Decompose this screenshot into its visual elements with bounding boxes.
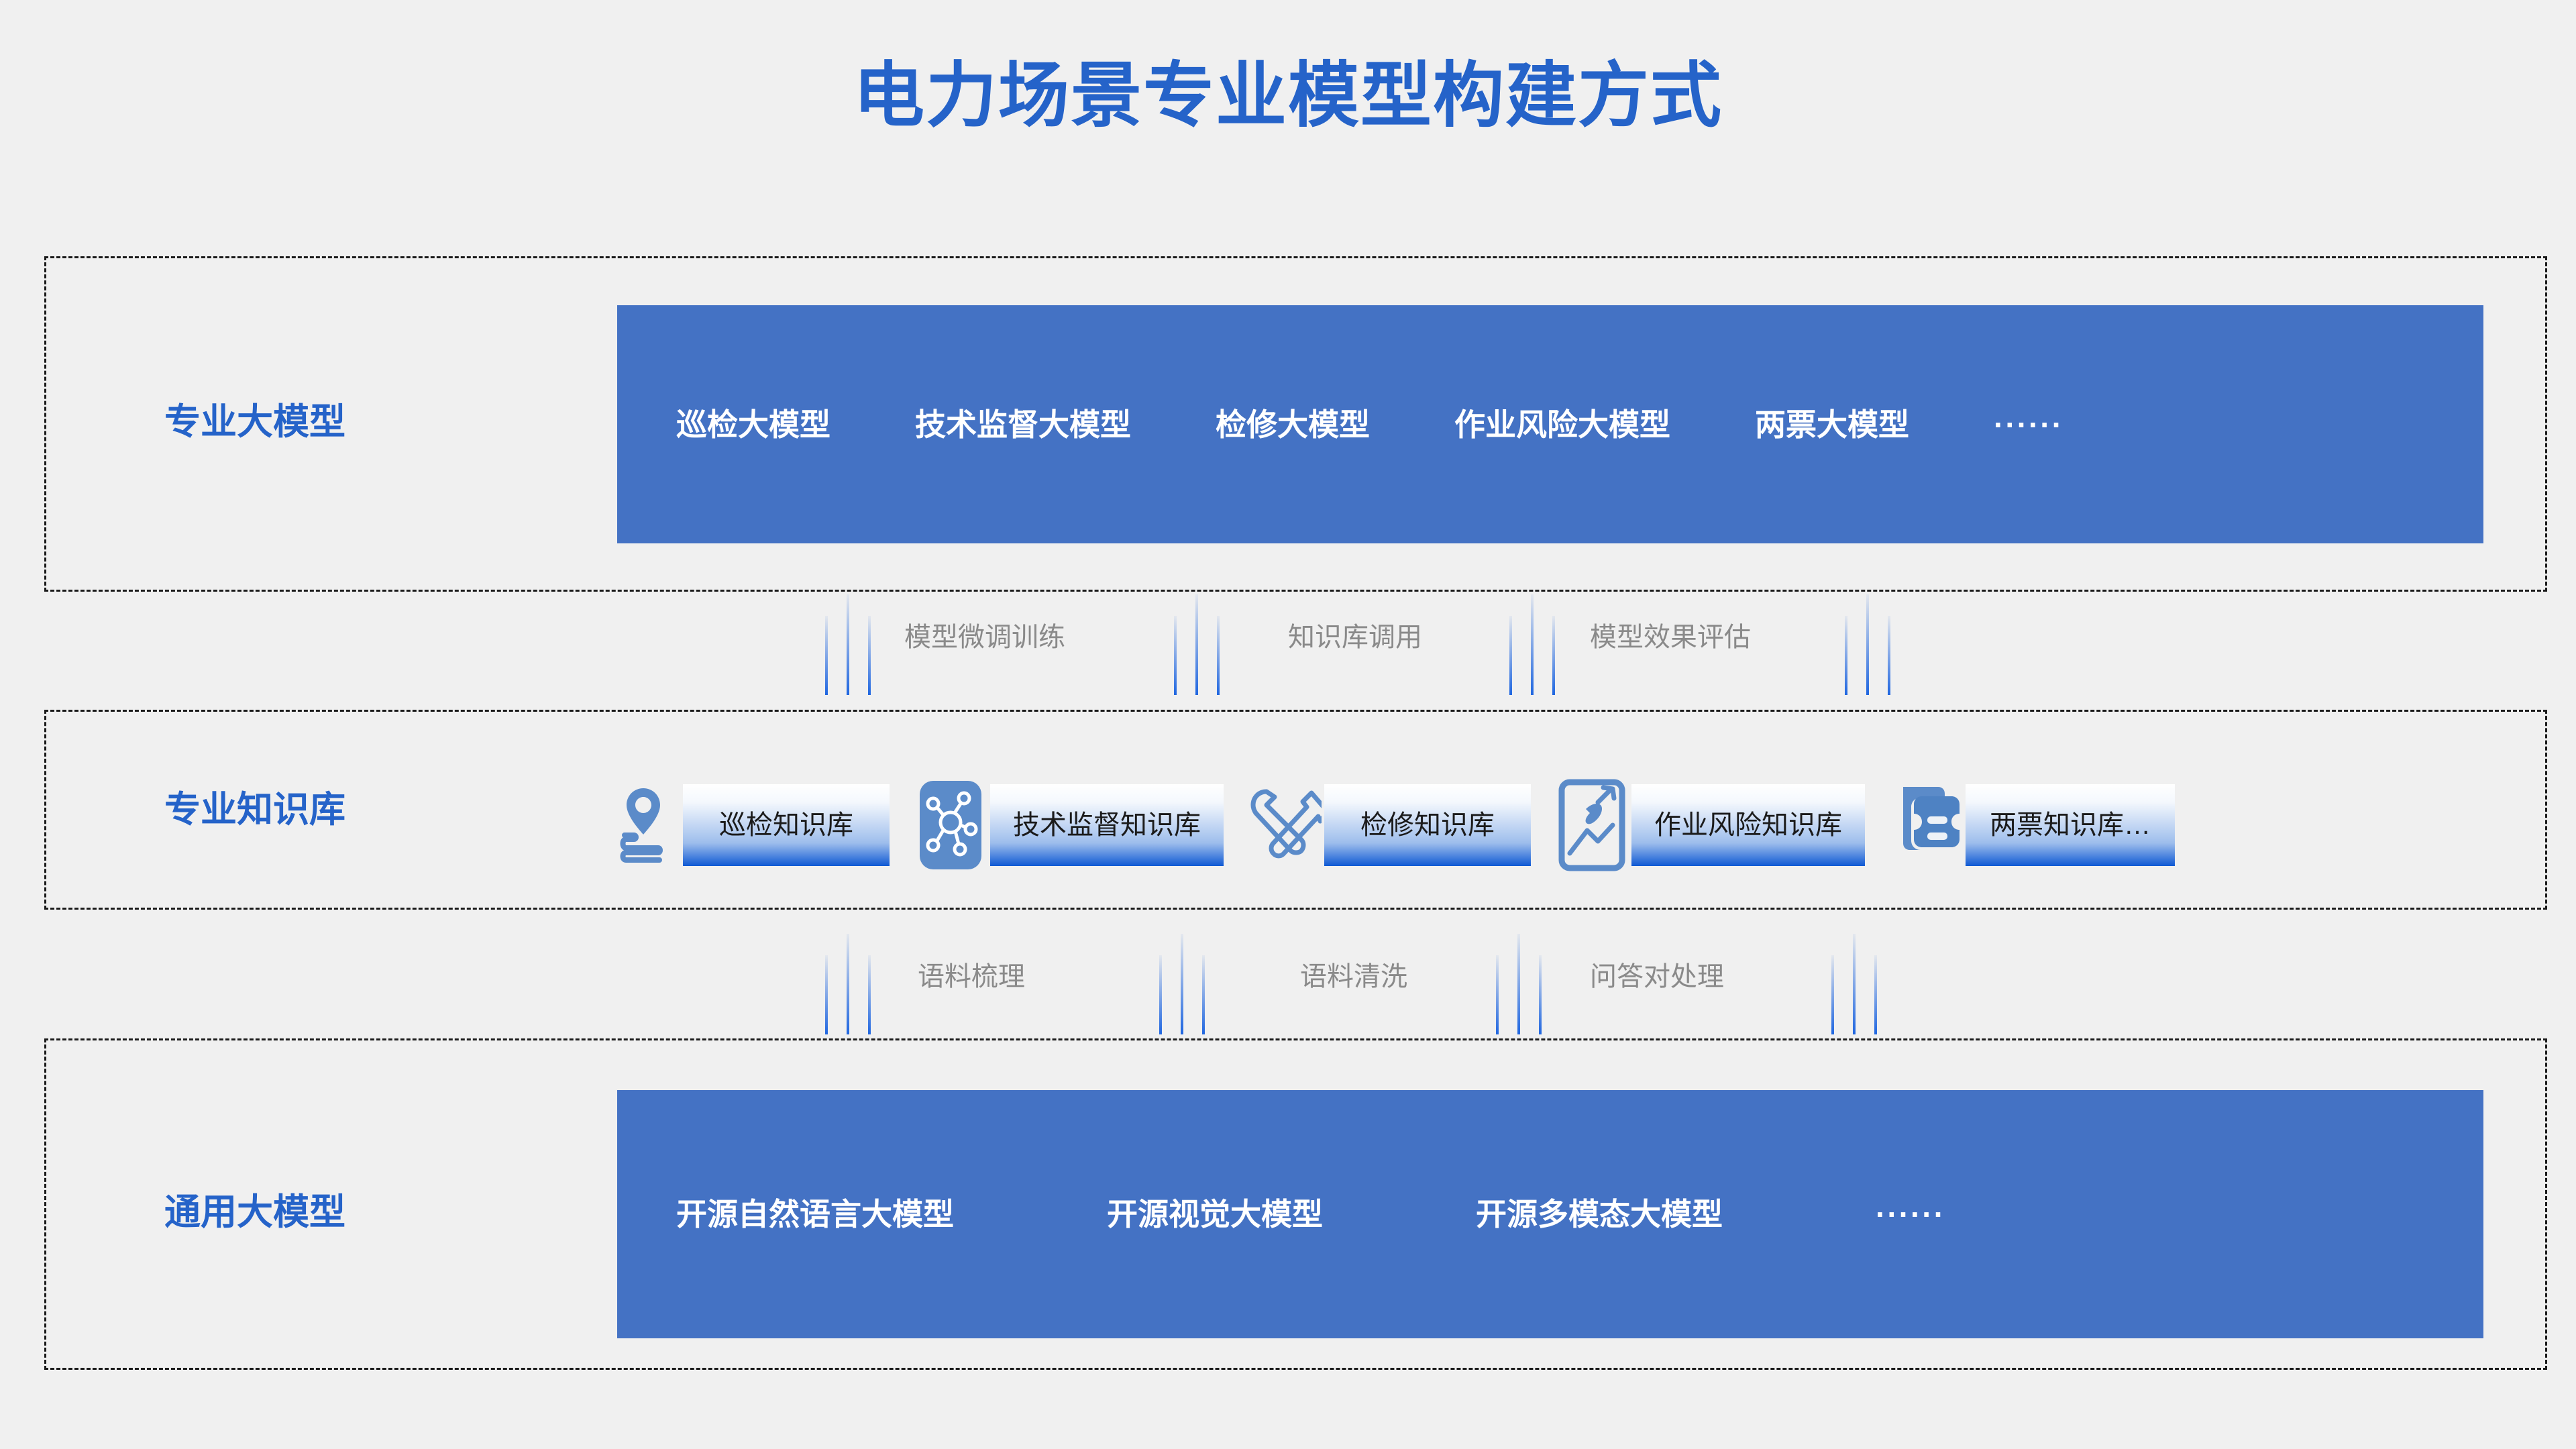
connector-line-group-2 <box>1174 594 1234 695</box>
connector-line-group-5 <box>825 934 885 1034</box>
kb-card-inspection[interactable]: 巡检知识库 <box>604 778 890 872</box>
model-item-more-ellipsis: ······ <box>1994 409 2063 440</box>
general-item-multimodal[interactable]: 开源多模态大模型 <box>1476 1199 1723 1230</box>
connector-line-group-6 <box>1159 934 1220 1034</box>
section-label-professional-model: 专业大模型 <box>0 404 510 440</box>
general-item-more-ellipsis: ······ <box>1876 1199 1945 1230</box>
general-item-vision[interactable]: 开源视觉大模型 <box>1107 1199 1323 1230</box>
connector-line-group-8 <box>1831 934 1892 1034</box>
general-item-nlp[interactable]: 开源自然语言大模型 <box>676 1199 954 1230</box>
connector-line-group-1 <box>825 594 885 695</box>
connector-kb-to-general: 语料梳理 语料清洗 问答对处理 <box>617 934 2483 1034</box>
model-item-inspection[interactable]: 巡检大模型 <box>676 409 830 440</box>
connector-line-group-4 <box>1845 594 1905 695</box>
connector-label-finetune: 模型微调训练 <box>904 624 1065 651</box>
kb-label-inspection: 巡检知识库 <box>719 812 853 839</box>
kb-chip-two-tickets[interactable]: 两票知识库… <box>1966 784 2175 866</box>
model-item-tech-supervision[interactable]: 技术监督大模型 <box>915 409 1131 440</box>
kb-label-maintenance: 检修知识库 <box>1360 812 1495 839</box>
model-item-maintenance[interactable]: 检修大模型 <box>1216 409 1370 440</box>
knowledge-base-card-row: 巡检知识库 <box>604 765 2549 885</box>
connector-label-kb-invoke: 知识库调用 <box>1288 624 1422 651</box>
kb-card-maintenance[interactable]: 检修知识库 <box>1245 778 1531 872</box>
ticket-stack-icon <box>1886 778 1966 872</box>
kb-card-work-risk[interactable]: 作业风险知识库 <box>1552 778 1865 872</box>
kb-card-tech-supervision[interactable]: 技术监督知识库 <box>911 778 1224 872</box>
kb-chip-inspection[interactable]: 巡检知识库 <box>683 784 890 866</box>
section-label-general-model: 通用大模型 <box>0 1194 510 1230</box>
location-pin-icon <box>604 778 683 872</box>
connector-label-corpus-sorting: 语料梳理 <box>918 963 1025 990</box>
network-node-icon <box>911 778 990 872</box>
kb-card-two-tickets[interactable]: 两票知识库… <box>1886 778 2175 872</box>
section-label-professional-kb: 专业知识库 <box>0 792 510 828</box>
model-item-two-tickets[interactable]: 两票大模型 <box>1755 409 1909 440</box>
connector-label-corpus-cleaning: 语料清洗 <box>1300 963 1407 990</box>
connector-model-to-kb: 模型微调训练 知识库调用 模型效果评估 <box>617 594 2483 695</box>
connector-label-eval: 模型效果评估 <box>1590 624 1751 651</box>
kb-label-two-tickets: 两票知识库… <box>1990 812 2151 839</box>
professional-model-bar: 巡检大模型 技术监督大模型 检修大模型 作业风险大模型 两票大模型 ······ <box>617 305 2483 543</box>
kb-label-tech-supervision: 技术监督知识库 <box>1013 812 1201 839</box>
kb-chip-maintenance[interactable]: 检修知识库 <box>1324 784 1531 866</box>
wrench-screwdriver-icon <box>1245 778 1324 872</box>
connector-line-group-7 <box>1496 934 1556 1034</box>
page-title: 电力场景专业模型构建方式 <box>0 60 2576 131</box>
shovel-frame-icon <box>1552 778 1631 872</box>
model-item-work-risk[interactable]: 作业风险大模型 <box>1454 409 1670 440</box>
kb-chip-tech-supervision[interactable]: 技术监督知识库 <box>990 784 1224 866</box>
general-model-bar: 开源自然语言大模型 开源视觉大模型 开源多模态大模型 ······ <box>617 1090 2483 1338</box>
connector-line-group-3 <box>1509 594 1570 695</box>
kb-chip-work-risk[interactable]: 作业风险知识库 <box>1631 784 1865 866</box>
connector-label-qa-processing: 问答对处理 <box>1590 963 1724 990</box>
kb-label-work-risk: 作业风险知识库 <box>1654 812 1842 839</box>
